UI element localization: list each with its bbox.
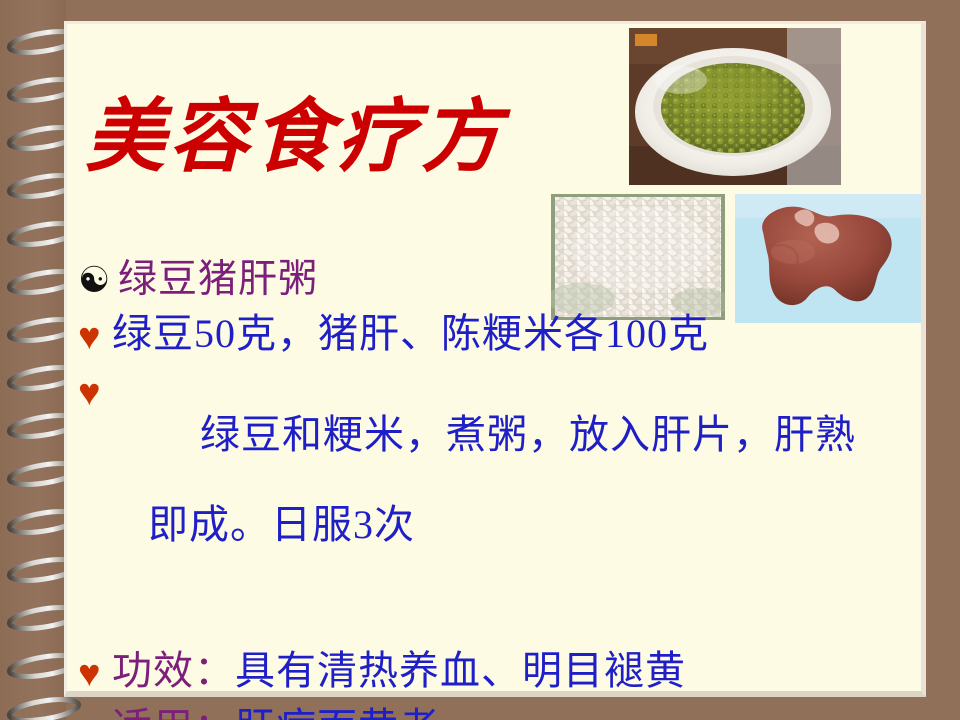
- indication-body: 肝病面黄者: [235, 705, 440, 720]
- page-title: 美容食疗方: [85, 82, 515, 192]
- indication-label: 适用：: [112, 705, 235, 720]
- heart-icon: ♥: [78, 706, 112, 720]
- page-title-text: 美容食疗方: [85, 89, 511, 183]
- heart-icon: ♥: [78, 312, 112, 356]
- ingredients-text: 绿豆50克，猪肝、陈粳米各100克: [112, 312, 938, 357]
- list-item-indication: ♥ 适用：肝病面黄者: [78, 706, 938, 720]
- effect-text: 功效：具有清热养血、明目褪黄: [112, 649, 938, 694]
- list-item-ingredients: ♥ 绿豆50克，猪肝、陈粳米各100克: [78, 312, 938, 357]
- method-line-2: 即成。日服3次: [112, 503, 938, 548]
- yin-yang-icon: ☯: [78, 258, 118, 298]
- method-line-1: 绿豆和粳米，煮粥，放入肝片，肝熟: [200, 412, 856, 457]
- recipe-heading-row: ☯ 绿豆猪肝粥: [78, 258, 938, 302]
- mung-beans-photo: [629, 28, 841, 185]
- method-text: 绿豆和粳米，煮粥，放入肝片，肝熟 即成。日服3次: [112, 368, 938, 637]
- list-item-effect: ♥ 功效：具有清热养血、明目褪黄: [78, 649, 938, 694]
- binding-strip: [0, 0, 66, 720]
- effect-body: 具有清热养血、明目褪黄: [235, 648, 686, 693]
- heart-icon: ♥: [78, 649, 112, 693]
- list-item-method: ♥ 绿豆和粳米，煮粥，放入肝片，肝熟 即成。日服3次: [78, 368, 938, 637]
- heart-icon: ♥: [78, 368, 112, 412]
- indication-text: 适用：肝病面黄者: [112, 706, 938, 720]
- slide-canvas: 美容食疗方: [0, 0, 960, 720]
- recipe-heading-text: 绿豆猪肝粥: [118, 258, 938, 302]
- effect-label: 功效：: [112, 648, 235, 693]
- recipe-content: ☯ 绿豆猪肝粥 ♥ 绿豆50克，猪肝、陈粳米各100克 ♥ 绿豆和粳米，煮粥，放…: [78, 258, 938, 720]
